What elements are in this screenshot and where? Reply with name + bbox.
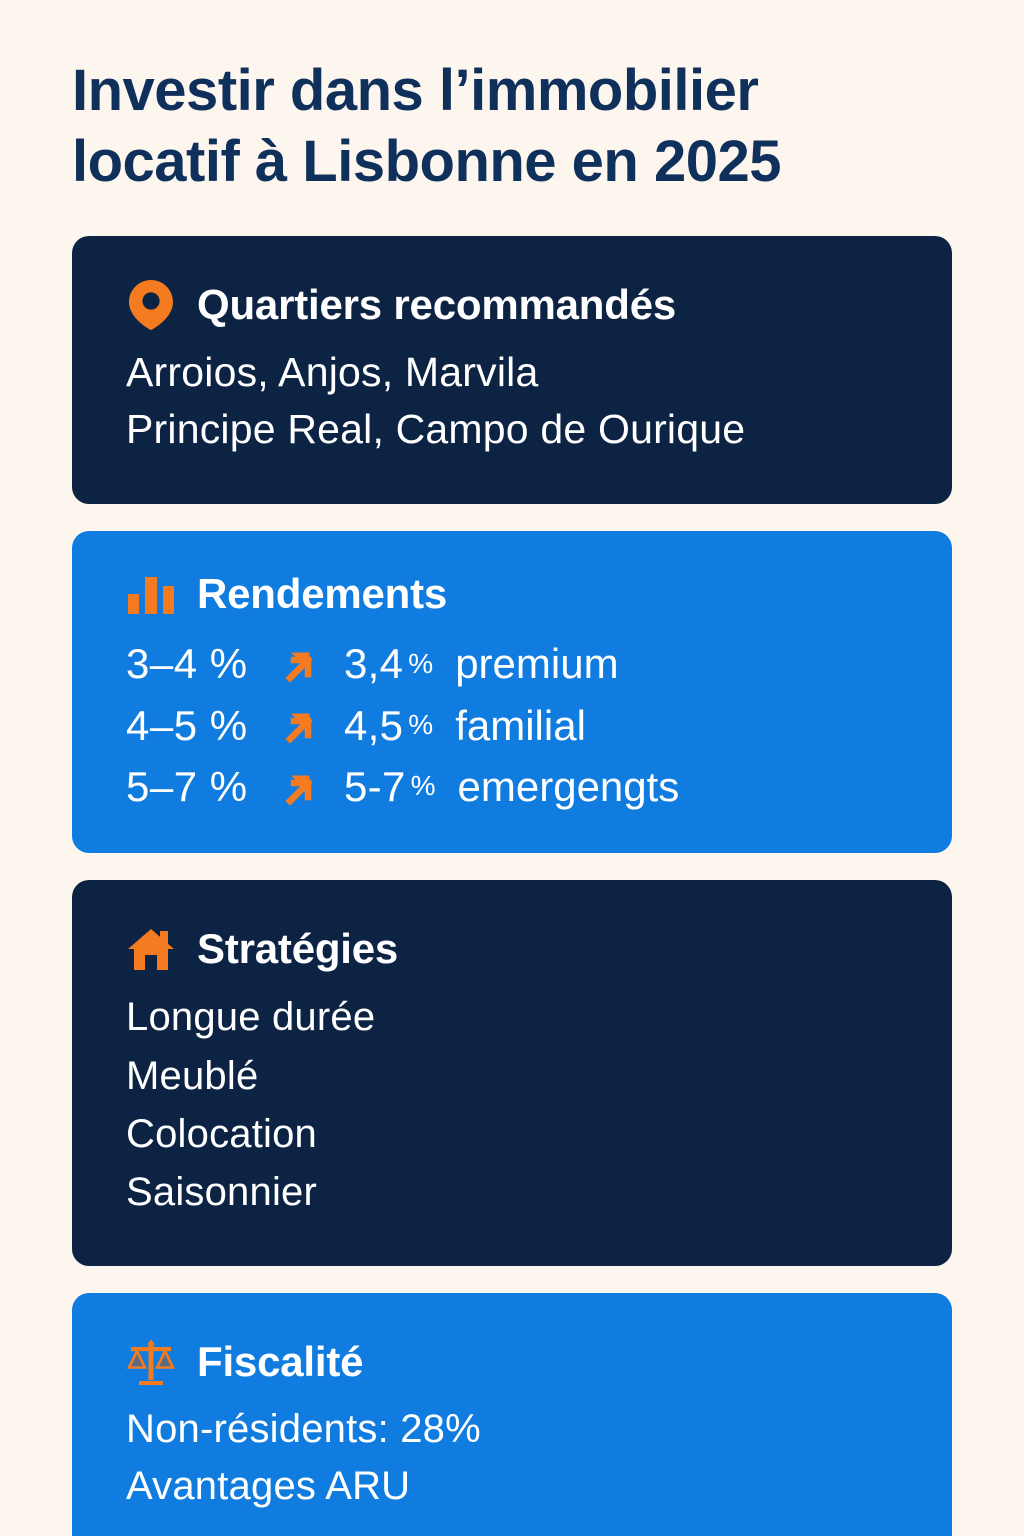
card-fiscalite: Fiscalité Non-résidents: 28% Avantages A…	[72, 1293, 952, 1536]
card-body-line: Colocation	[126, 1105, 952, 1163]
yield-row: 4–5 % 4,5 % familial	[126, 695, 952, 756]
card-body-line: Avantages ARU	[126, 1458, 952, 1516]
arrow-up-right-icon	[278, 644, 344, 684]
card-title: Stratégies	[197, 925, 398, 973]
card-body-line: Meublé	[126, 1047, 952, 1105]
card-title: Fiscalité	[197, 1338, 363, 1386]
yield-label: familial	[455, 695, 586, 756]
card-list: Quartiers recommandés Arroios, Anjos, Ma…	[72, 236, 952, 1536]
yield-row: 5–7 % 5-7 % emergengts	[126, 756, 952, 817]
yield-row: 3–4 % 3,4 % premium	[126, 633, 952, 694]
card-title: Quartiers recommandés	[197, 281, 676, 329]
card-body-line: Longue durée	[126, 988, 952, 1046]
card-quartiers-recommandes: Quartiers recommandés Arroios, Anjos, Ma…	[72, 236, 952, 505]
page-title-line-1: Investir dans l’immobilier	[72, 56, 952, 127]
yield-percent-sign: %	[408, 705, 433, 746]
map-pin-icon	[126, 280, 176, 330]
card-body: Longue durée Meublé Colocation Saisonnie…	[126, 988, 952, 1222]
scales-icon	[126, 1337, 176, 1387]
yield-value: 5-7	[344, 756, 406, 817]
yield-label: premium	[455, 633, 618, 694]
card-header: Rendements	[126, 569, 952, 619]
card-body-line: Non-résidents: 28%	[126, 1401, 952, 1459]
yield-label: emergengts	[458, 756, 680, 817]
card-strategies: Stratégies Longue durée Meublé Colocatio…	[72, 880, 952, 1266]
card-rendements: Rendements 3–4 % 3,4 % premium	[72, 531, 952, 853]
card-header: Quartiers recommandés	[126, 280, 952, 330]
page-title-line-2: locatif à Lisbonne en 2025	[72, 127, 952, 198]
yield-range: 3–4 %	[126, 633, 278, 694]
house-icon	[126, 924, 176, 974]
card-body: Arroios, Anjos, Marvila Principe Real, C…	[126, 344, 952, 459]
card-body-line: Arroios, Anjos, Marvila	[126, 344, 952, 401]
bar-chart-icon	[126, 569, 176, 619]
card-body: 3–4 % 3,4 % premium 4–5 %	[126, 633, 952, 817]
yield-value: 4,5	[344, 695, 403, 756]
card-body-line: Principe Real, Campo de Ourique	[126, 401, 952, 458]
yield-range: 5–7 %	[126, 756, 278, 817]
yield-percent-sign: %	[408, 644, 433, 685]
page-title: Investir dans l’immobilier locatif à Lis…	[72, 0, 952, 198]
yield-percent-sign: %	[411, 766, 436, 807]
yield-value: 3,4	[344, 633, 403, 694]
card-body-line: Saisonnier	[126, 1163, 952, 1221]
yield-range: 4–5 %	[126, 695, 278, 756]
arrow-up-right-icon	[278, 705, 344, 745]
card-body: Non-résidents: 28% Avantages ARU	[126, 1401, 952, 1516]
card-header: Fiscalité	[126, 1337, 952, 1387]
card-title: Rendements	[197, 570, 447, 618]
card-header: Stratégies	[126, 924, 952, 974]
infographic-page: Investir dans l’immobilier locatif à Lis…	[0, 0, 1024, 1536]
arrow-up-right-icon	[278, 767, 344, 807]
